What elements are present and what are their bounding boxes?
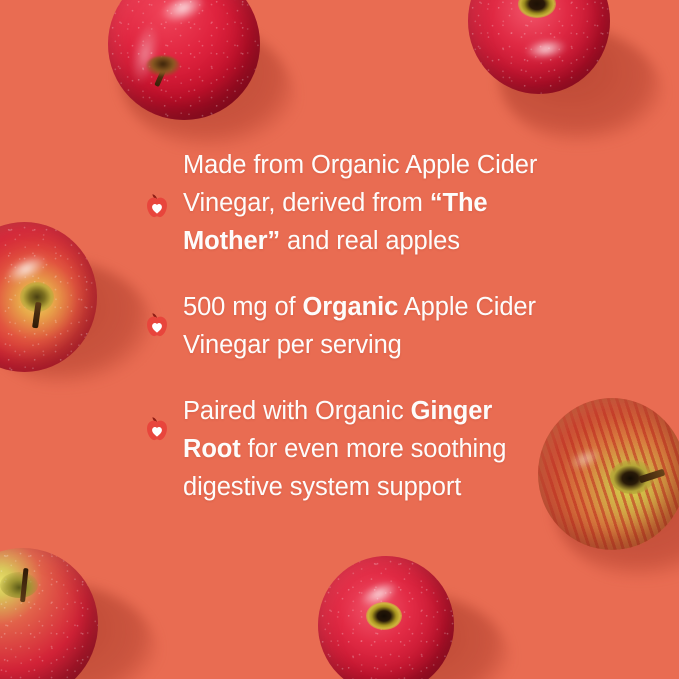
- apple-calyx-bottom-left: [0, 572, 38, 598]
- apple-middle-right: [538, 398, 679, 550]
- apple-bottom-left: [0, 548, 98, 679]
- bullet-2-segment-2: Organic: [303, 293, 399, 321]
- apple-heart-icon: [146, 194, 168, 220]
- apple-heart-icon: [146, 417, 168, 443]
- apple-bottom-center: [318, 556, 454, 679]
- feature-bullet-list: Made from Organic Apple Cider Vinegar, d…: [146, 146, 546, 506]
- bullet-1-segment-3: and real apples: [280, 227, 460, 255]
- promo-graphic: Made from Organic Apple Cider Vinegar, d…: [0, 0, 679, 679]
- apple-heart-icon: [146, 313, 168, 339]
- apple-calyx-top-left: [146, 56, 180, 76]
- apple-calyx-bottom-center: [366, 602, 402, 630]
- bullet-2-segment-1: 500 mg of: [183, 293, 303, 321]
- list-item: Made from Organic Apple Cider Vinegar, d…: [146, 146, 546, 260]
- bullet-text-2: 500 mg of Organic Apple Cider Vinegar pe…: [183, 288, 546, 364]
- bullet-text-3: Paired with Organic Ginger Root for even…: [183, 392, 546, 506]
- list-item: Paired with Organic Ginger Root for even…: [146, 392, 546, 506]
- bullet-3-segment-1: Paired with Organic: [183, 397, 411, 425]
- bullet-text-1: Made from Organic Apple Cider Vinegar, d…: [183, 146, 546, 260]
- list-item: 500 mg of Organic Apple Cider Vinegar pe…: [146, 288, 546, 364]
